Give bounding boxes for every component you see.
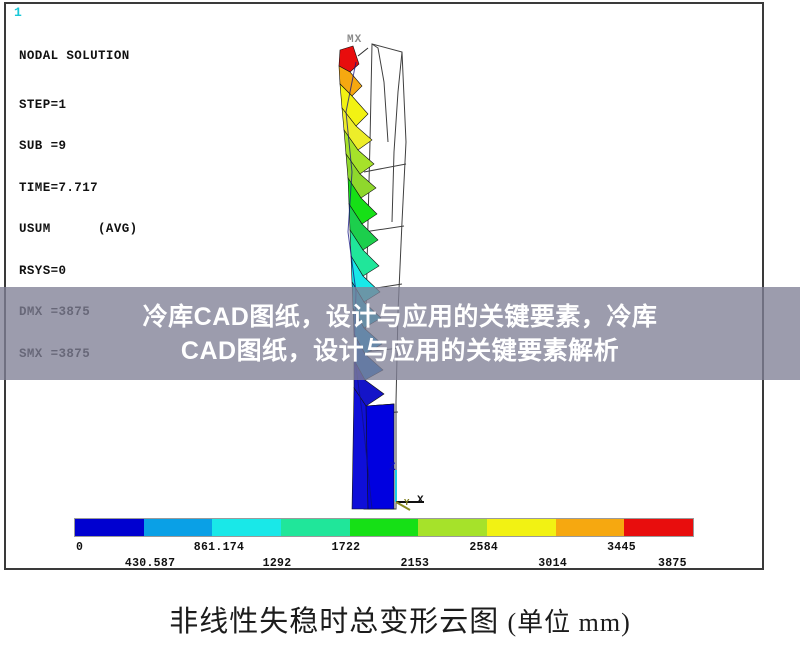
colorbar-ticks-lower: 430.5871292215330143875 [74, 557, 694, 572]
figure-caption: 非线性失稳时总变形云图 (单位 mm) [0, 598, 800, 640]
colorbar-ticks-upper: 0861.174172225843445 [74, 541, 694, 556]
legend-row-step: STEP=1 [19, 99, 138, 112]
overlay-title-line-1: 冷库CAD图纸，设计与应用的关键要素，冷库 [0, 300, 800, 334]
colorbar-tick-lower-4: 3875 [658, 557, 687, 570]
axis-label-z: Z [389, 462, 396, 474]
contour-colorbar: 0861.174172225843445 430.587129221533014… [74, 518, 694, 572]
title-overlay-banner: 冷库CAD图纸，设计与应用的关键要素，冷库 CAD图纸，设计与应用的关键要素解析 [0, 287, 800, 380]
colorbar-band-3 [281, 519, 350, 536]
colorbar-tick-upper-0: 0 [76, 541, 83, 554]
colorbar-bands [74, 518, 694, 537]
legend-title: NODAL SOLUTION [19, 50, 138, 63]
legend-row-usum: USUM (AVG) [19, 223, 138, 236]
axis-label-y: Y [404, 498, 409, 508]
overlay-title-line-2: CAD图纸，设计与应用的关键要素解析 [0, 334, 800, 368]
deformed-shape-model: MX [306, 22, 496, 512]
colorbar-tick-lower-2: 2153 [400, 557, 429, 570]
axis-label-x: X [417, 495, 424, 507]
colorbar-band-0 [75, 519, 144, 536]
colorbar-band-1 [144, 519, 213, 536]
contour-model-svg [306, 22, 496, 512]
colorbar-tick-upper-3: 2584 [469, 541, 498, 554]
colorbar-tick-upper-4: 3445 [607, 541, 636, 554]
max-marker-leader [358, 48, 368, 56]
figure-caption-unit: (单位 mm) [508, 608, 631, 637]
colorbar-band-7 [556, 519, 625, 536]
window-index-label: 1 [14, 6, 22, 19]
ansys-plot-frame: 1 NODAL SOLUTION STEP=1 SUB =9 TIME=7.71… [4, 2, 764, 570]
colorbar-band-6 [487, 519, 556, 536]
colorbar-tick-lower-1: 1292 [263, 557, 292, 570]
axis-triad: Z X Y [384, 462, 432, 514]
colorbar-band-8 [624, 519, 693, 536]
colorbar-tick-lower-0: 430.587 [125, 557, 175, 570]
legend-row-sub: SUB =9 [19, 140, 138, 153]
colorbar-tick-upper-1: 861.174 [194, 541, 244, 554]
colorbar-band-2 [212, 519, 281, 536]
max-deformation-marker: MX [347, 34, 362, 46]
colorbar-band-4 [350, 519, 419, 536]
colorbar-band-5 [418, 519, 487, 536]
colorbar-tick-lower-3: 3014 [538, 557, 567, 570]
legend-row-time: TIME=7.717 [19, 182, 138, 195]
figure-caption-text: 非线性失稳时总变形云图 [169, 606, 499, 638]
colorbar-tick-upper-2: 1722 [332, 541, 361, 554]
legend-row-rsys: RSYS=0 [19, 265, 138, 278]
